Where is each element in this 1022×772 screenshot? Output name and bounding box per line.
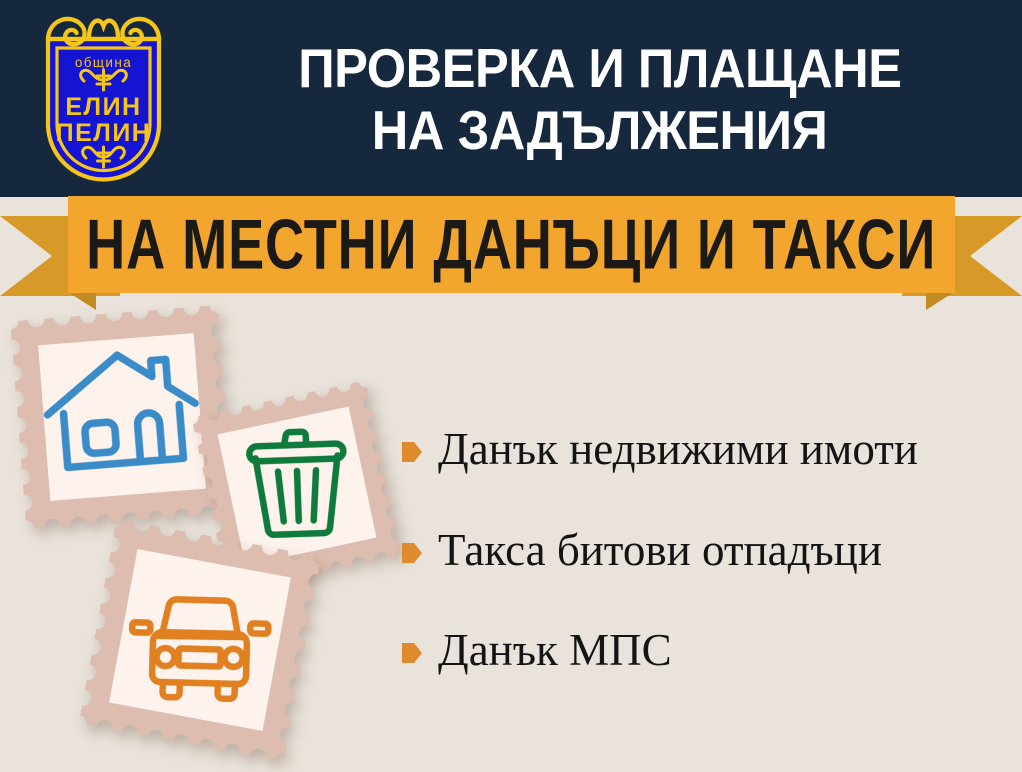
- list-item-label: Такса битови отпадъци: [438, 526, 882, 575]
- coat-of-arms-icon: община ЕЛИН ПЕЛИН: [26, 8, 181, 188]
- title-line-2: НА ЗАДЪЛЖЕНИЯ: [372, 100, 828, 162]
- poster-root: община ЕЛИН ПЕЛИН ПРОВЕ: [0, 0, 1022, 772]
- svg-text:община: община: [75, 55, 132, 70]
- svg-text:ПЕЛИН: ПЕЛИН: [56, 119, 152, 147]
- tax-type-list: Данък недвижими имоти Такса битови отпад…: [402, 425, 1012, 727]
- list-item[interactable]: Данък недвижими имоти: [402, 425, 1012, 474]
- svg-text:ЕЛИН: ЕЛИН: [65, 93, 141, 121]
- ribbon-subtitle: НА МЕСТНИ ДАНЪЦИ И ТАКСИ: [87, 204, 937, 285]
- list-item[interactable]: Такса битови отпадъци: [402, 526, 1012, 575]
- page-title: ПРОВЕРКА И ПЛАЩАНЕ НА ЗАДЪЛЖЕНИЯ: [190, 12, 1010, 187]
- bullet-arrow-icon: [402, 542, 422, 564]
- ribbon-main-bar: НА МЕСТНИ ДАНЪЦИ И ТАКСИ: [68, 196, 955, 293]
- bullet-arrow-icon: [402, 441, 422, 463]
- bullet-arrow-icon: [402, 642, 422, 664]
- list-item[interactable]: Данък МПС: [402, 626, 1012, 675]
- list-item-label: Данък недвижими имоти: [438, 425, 918, 474]
- stamp-car: [79, 519, 321, 761]
- title-line-1: ПРОВЕРКА И ПЛАЩАНЕ: [298, 38, 901, 100]
- ribbon-banner: НА МЕСТНИ ДАНЪЦИ И ТАКСИ: [0, 196, 1022, 308]
- list-item-label: Данък МПС: [438, 626, 672, 675]
- stamp-perforation-car: [79, 519, 321, 761]
